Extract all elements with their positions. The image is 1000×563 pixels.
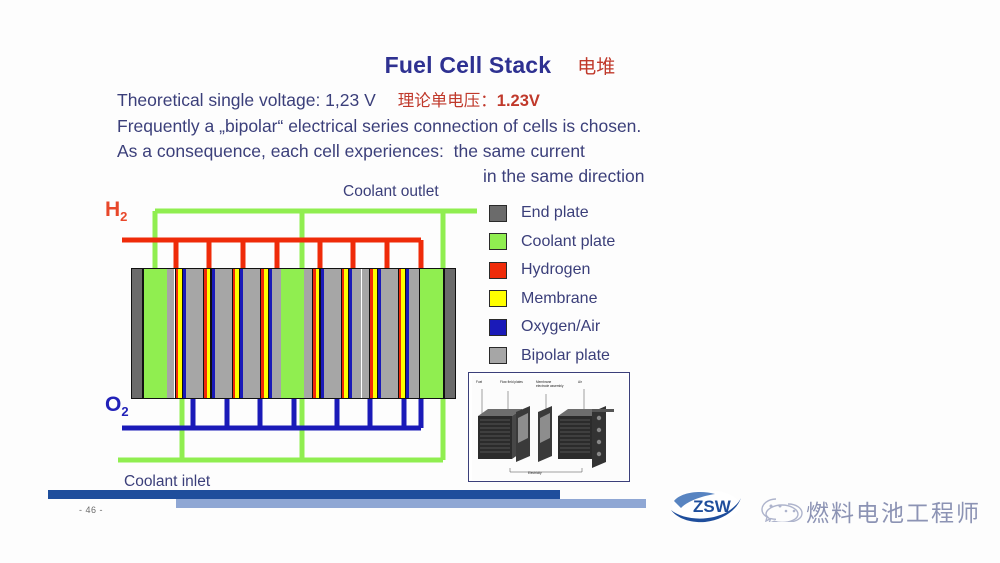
legend-swatch-end-plate: [489, 205, 507, 222]
legend-label-membrane: Membrane: [521, 290, 597, 308]
photo-label-air: Air: [578, 381, 592, 385]
stack-layer-bipolar-plate: [195, 269, 203, 398]
stack-layer-bipolar-plate: [362, 269, 370, 398]
text-line-bipolar: Frequently a „bipolar“ electrical series…: [117, 114, 897, 139]
page-title: Fuel Cell Stack: [385, 52, 552, 78]
stack-layer-bipolar-plate: [243, 269, 252, 398]
stack-layer-bipolar-plate: [215, 269, 224, 398]
legend-item-hydrogen: Hydrogen: [489, 256, 615, 285]
legend-item-membrane: Membrane: [489, 285, 615, 314]
stack-layer-coolant-plate: [281, 269, 304, 398]
body-text-block: Theoretical single voltage: 1,23 V理论单电压：…: [117, 88, 897, 189]
legend-swatch-coolant-plate: [489, 233, 507, 250]
slide-title-row: Fuel Cell Stack电堆: [0, 52, 1000, 79]
legend-item-coolant-plate: Coolant plate: [489, 228, 615, 257]
photo-label-mea: Membrane electrode assembly: [536, 381, 564, 388]
legend-label-bipolar-plate: Bipolar plate: [521, 347, 610, 365]
hydrogen-label: H2: [105, 198, 127, 224]
legend: End plate Coolant plate Hydrogen Membran…: [489, 199, 615, 370]
zsw-logo-text: ZSW: [693, 497, 732, 516]
stack-layer-bipolar-plate: [186, 269, 195, 398]
legend-label-coolant-plate: Coolant plate: [521, 233, 615, 251]
consequence-text: As a consequence, each cell experiences:: [117, 141, 444, 161]
stack-layer-bipolar-plate: [167, 269, 175, 398]
zsw-logo: ZSW: [665, 484, 747, 528]
legend-label-hydrogen: Hydrogen: [521, 261, 590, 279]
stack-layer-coolant-plate: [420, 269, 443, 398]
same-current-text: the same current: [454, 141, 585, 161]
photo-label-electricity: Electricity: [528, 472, 568, 476]
stack-layer-coolant-plate: [144, 269, 167, 398]
voltage-text-cn-label: 理论单电压：: [398, 91, 497, 110]
stack-layer-end-plate: [132, 269, 142, 398]
text-line-voltage: Theoretical single voltage: 1,23 V理论单电压：…: [117, 88, 897, 114]
legend-swatch-bipolar-plate: [489, 347, 507, 364]
fuel-cell-stack: [131, 268, 456, 399]
legend-swatch-hydrogen: [489, 262, 507, 279]
text-line-direction: in the same direction: [117, 164, 897, 189]
coolant-outlet-label: Coolant outlet: [343, 183, 439, 201]
legend-swatch-membrane: [489, 290, 507, 307]
stack-layer-bipolar-plate: [352, 269, 361, 398]
voltage-text-en: Theoretical single voltage: 1,23 V: [117, 90, 376, 110]
coolant-inlet-label: Coolant inlet: [124, 473, 210, 491]
stack-layer-bipolar-plate: [253, 269, 261, 398]
stack-layer-bipolar-plate: [333, 269, 341, 398]
hydrogen-piping: [122, 240, 421, 269]
stack-layer-bipolar-plate: [324, 269, 333, 398]
stack-photo-inset: Fuel Flow field plates Membrane electrod…: [468, 372, 630, 482]
page-number: - 46 -: [79, 505, 103, 515]
photo-label-flow-field: Flow field plates: [500, 381, 524, 385]
oxygen-label: O2: [105, 393, 129, 419]
slide-canvas: Fuel Cell Stack电堆 Theoretical single vol…: [0, 0, 1000, 563]
legend-swatch-oxygen: [489, 319, 507, 336]
stack-layer-bipolar-plate: [304, 269, 312, 398]
photo-label-fuel: Fuel: [476, 381, 494, 385]
photo-illustration: [472, 376, 628, 480]
stack-layer-bipolar-plate: [272, 269, 281, 398]
oxygen-piping: [122, 398, 421, 428]
stack-layer-bipolar-plate: [409, 269, 418, 398]
legend-item-end-plate: End plate: [489, 199, 615, 228]
footer-bar-dark: [48, 490, 560, 499]
stack-layer-end-plate: [445, 269, 455, 398]
page-title-chinese: 电堆: [577, 56, 615, 78]
wechat-icon: [760, 496, 804, 522]
stack-layer-bipolar-plate: [381, 269, 390, 398]
text-line-consequence: As a consequence, each cell experiences:…: [117, 139, 897, 164]
voltage-text-cn-value: 1.23V: [497, 92, 540, 110]
legend-item-oxygen: Oxygen/Air: [489, 313, 615, 342]
legend-label-end-plate: End plate: [521, 204, 589, 222]
wechat-account-name: 燃料电池工程师: [806, 494, 981, 528]
stack-layer-bipolar-plate: [390, 269, 398, 398]
legend-label-oxygen: Oxygen/Air: [521, 318, 600, 336]
footer-bar-light: [176, 499, 646, 508]
photo-image: Fuel Flow field plates Membrane electrod…: [472, 376, 626, 478]
legend-item-bipolar-plate: Bipolar plate: [489, 342, 615, 371]
stack-layer-bipolar-plate: [224, 269, 232, 398]
